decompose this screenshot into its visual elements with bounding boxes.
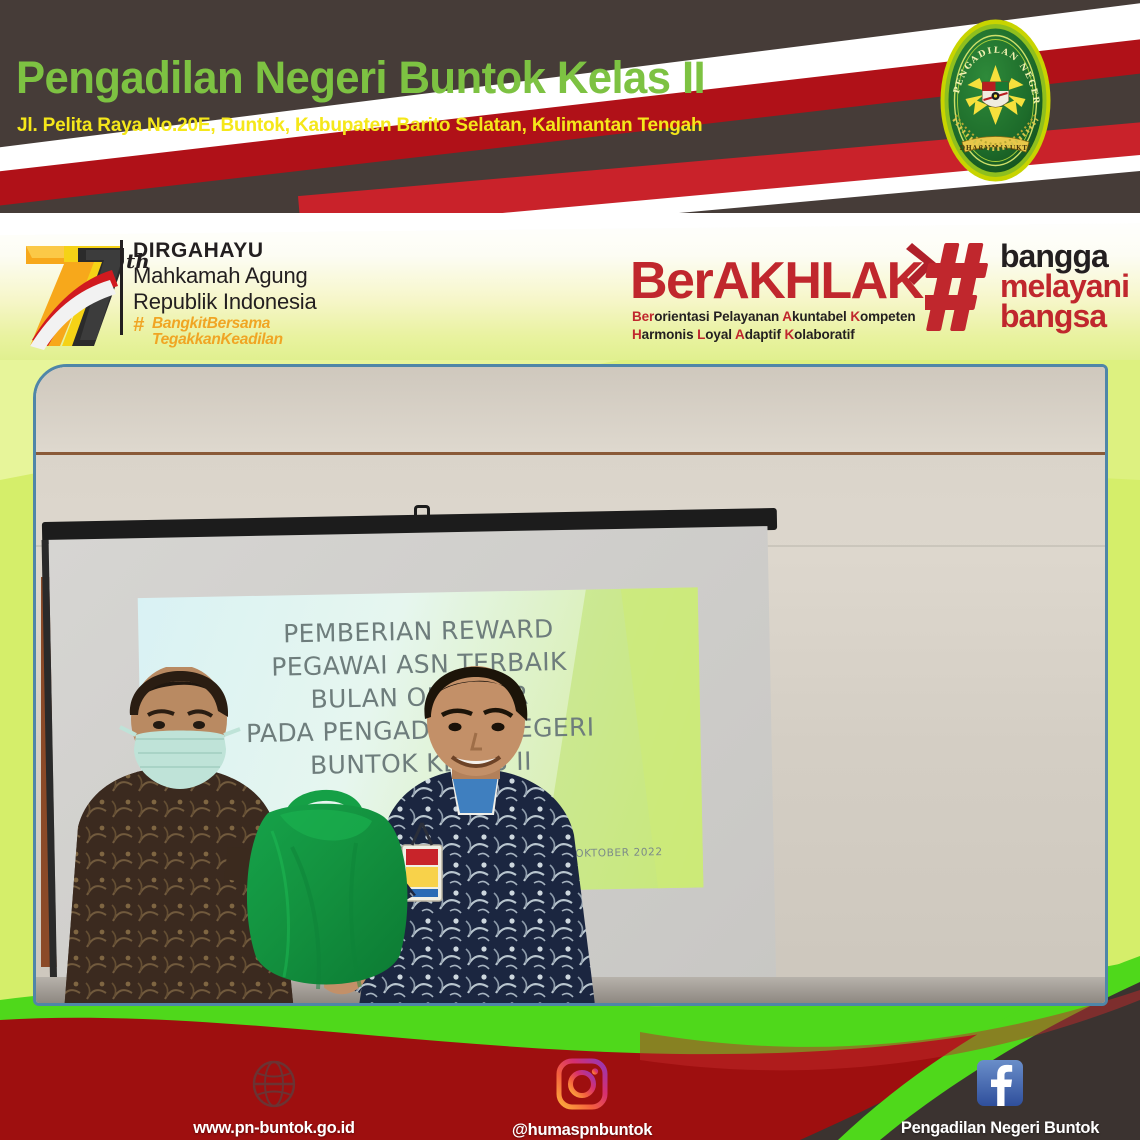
green-gift-bag	[232, 787, 422, 1002]
footer-facebook-item[interactable]: Pengadilan Negeri Buntok	[790, 1058, 1140, 1138]
anniversary-hashtag-line-1: BangkitBersama	[152, 316, 270, 332]
footer-instagram-label: @humaspnbuntok	[432, 1121, 732, 1140]
footer-instagram-item[interactable]: @humaspnbuntok	[432, 1058, 732, 1140]
dirgahayu-line-3: Republik Indonesia	[133, 289, 317, 315]
facebook-icon	[790, 1058, 1140, 1113]
tagline-line-1: bangga	[1000, 241, 1108, 271]
dirgahayu-line-2: Mahkamah Agung	[133, 263, 308, 289]
instagram-icon	[432, 1058, 732, 1115]
tagline-line-3: bangsa	[1000, 301, 1106, 331]
berakhlak-values-line-2: Harmonis Loyal Adaptif Kolaboratif	[632, 327, 855, 342]
footer-website-label: www.pn-buntok.go.id	[64, 1119, 484, 1138]
hashtag-symbol-icon: #	[133, 314, 144, 337]
values-banner: th DIRGAHAYU Mahkamah Agung Republik Ind…	[0, 213, 1140, 363]
poster-root: Pengadilan Negeri Buntok Kelas II Jl. Pe…	[0, 0, 1140, 1140]
hashtag-icon	[925, 241, 997, 338]
page-title: Pengadilan Negeri Buntok Kelas II	[16, 52, 705, 104]
berakhlak-values-line-1: Berorientasi Pelayanan Akuntabel Kompete…	[632, 309, 916, 324]
berakhlak-logo: BerAKHLAK Berorientasi Pelayanan Akuntab…	[630, 231, 930, 351]
anniversary-divider	[120, 240, 123, 335]
footer-website-item[interactable]: www.pn-buntok.go.id	[64, 1060, 484, 1138]
court-seal-icon: PENGADILAN NEGERI BUNTOK	[940, 19, 1051, 182]
dirgahayu-heading: DIRGAHAYU	[133, 239, 264, 263]
footer-facebook-label: Pengadilan Negeri Buntok	[790, 1119, 1140, 1138]
tagline-line-2: melayani	[1000, 271, 1129, 301]
footer-social-bar: www.pn-buntok.go.id	[0, 1000, 1140, 1140]
anniversary-hashtag-line-2: TegakkanKeadilan	[152, 332, 283, 348]
room-ceiling	[36, 367, 1105, 455]
page-address: Jl. Pelita Raya No.20E, Buntok, Kabupate…	[17, 114, 702, 137]
svg-text:DHARMMAYUKTI: DHARMMAYUKTI	[960, 145, 1032, 152]
globe-icon	[64, 1060, 484, 1113]
award-ceremony-photo: PEMBERIAN REWARD PEGAWAI ASN TERBAIK BUL…	[33, 364, 1108, 1006]
bangga-melayani-bangsa-logo: bangga melayani bangsa	[925, 233, 1140, 343]
berakhlak-wordmark: BerAKHLAK	[630, 251, 923, 311]
